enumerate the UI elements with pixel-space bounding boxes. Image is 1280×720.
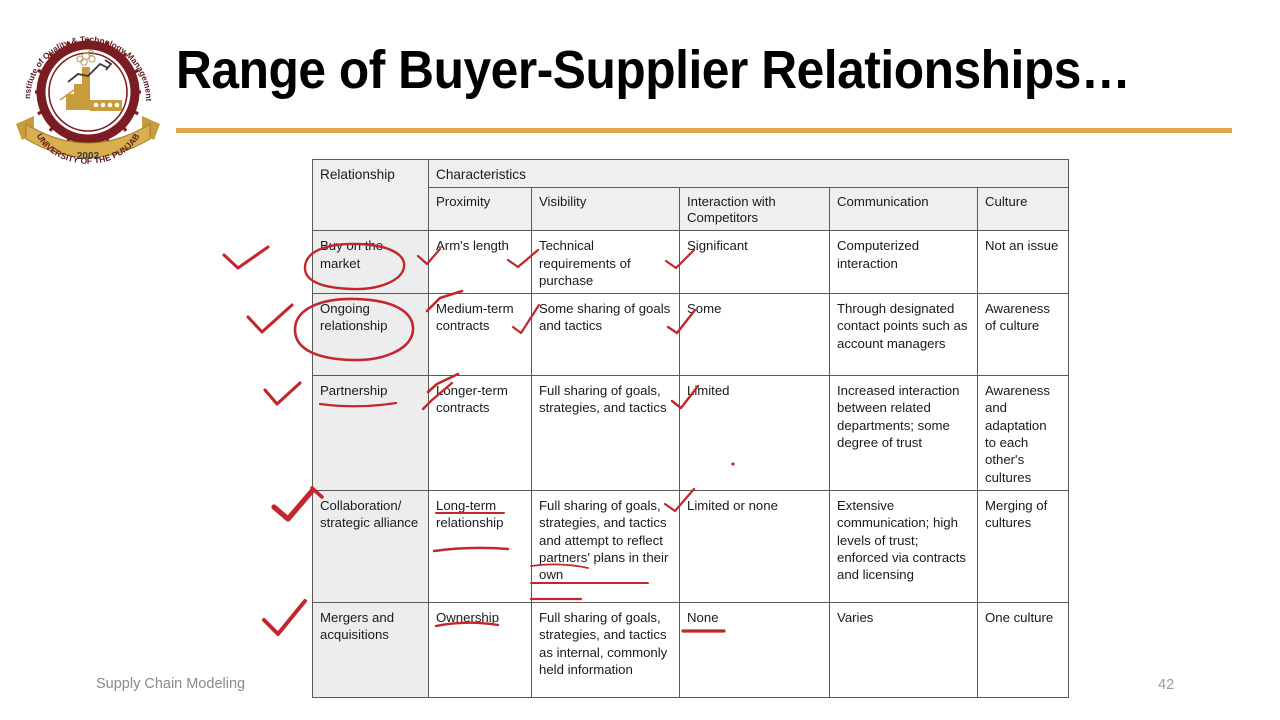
- table-row: Mergers and acquisitions Ownership Full …: [313, 602, 1069, 697]
- cell-interaction: None: [680, 602, 830, 697]
- cell-interaction: Limited or none: [680, 490, 830, 602]
- relationship-matrix-table: Relationship Characteristics Proximity V…: [312, 159, 1069, 698]
- cell-relationship: Collaboration/ strategic alliance: [313, 490, 429, 602]
- check-mark-row-collaboration: [274, 491, 312, 519]
- cell-proximity: Medium-term contracts: [429, 294, 532, 376]
- university-logo: Institute of Quality & Technology Manage…: [8, 12, 168, 172]
- footer-label: Supply Chain Modeling: [96, 676, 245, 692]
- header-interaction-with-competitors: Interaction with Competitors: [680, 188, 830, 231]
- page-number: 42: [1158, 677, 1174, 693]
- cell-culture: Not an issue: [978, 231, 1069, 294]
- header-proximity: Proximity: [429, 188, 532, 231]
- header-visibility: Visibility: [532, 188, 680, 231]
- slide-title: Range of Buyer-Supplier Relationships…: [176, 38, 1151, 102]
- cell-visibility: Full sharing of goals, strategies, and t…: [532, 376, 680, 491]
- cell-communication: Increased interaction between related de…: [830, 376, 978, 491]
- cell-interaction: Limited: [680, 376, 830, 491]
- cell-visibility: Full sharing of goals, strategies, and t…: [532, 602, 680, 697]
- cell-relationship: Buy on the market: [313, 231, 429, 294]
- cell-proximity: Longer-term contracts: [429, 376, 532, 491]
- cell-proximity: Long-term relationship: [429, 490, 532, 602]
- cell-culture: Awareness and adaptation to each other's…: [978, 376, 1069, 491]
- header-relationship: Relationship: [313, 160, 429, 231]
- table-row: Buy on the market Arm's length Technical…: [313, 231, 1069, 294]
- cell-culture: Awareness of culture: [978, 294, 1069, 376]
- table-row: Partnership Longer-term contracts Full s…: [313, 376, 1069, 491]
- header-communication: Communication: [830, 188, 978, 231]
- cell-visibility: Full sharing of goals, strategies, and t…: [532, 490, 680, 602]
- cell-proximity: Arm's length: [429, 231, 532, 294]
- check-mark-row-partnership: [265, 383, 300, 404]
- table-row: Collaboration/ strategic alliance Long-t…: [313, 490, 1069, 602]
- cell-interaction: Some: [680, 294, 830, 376]
- cell-relationship: Ongoing relationship: [313, 294, 429, 376]
- table-row: Ongoing relationship Medium-term contrac…: [313, 294, 1069, 376]
- cell-relationship: Mergers and acquisitions: [313, 602, 429, 697]
- cell-culture: One culture: [978, 602, 1069, 697]
- logo-year: 2002: [77, 151, 100, 162]
- title-divider-rule: [176, 128, 1232, 133]
- slide-canvas: Institute of Quality & Technology Manage…: [0, 0, 1280, 720]
- header-characteristics: Characteristics: [429, 160, 1069, 188]
- cell-culture: Merging of cultures: [978, 490, 1069, 602]
- cell-communication: Varies: [830, 602, 978, 697]
- header-culture: Culture: [978, 188, 1069, 231]
- relationship-matrix-container: Relationship Characteristics Proximity V…: [312, 159, 1068, 698]
- cell-communication: Extensive communication; high levels of …: [830, 490, 978, 602]
- check-mark-row-mergers: [264, 601, 305, 634]
- cell-visibility: Some sharing of goals and tactics: [532, 294, 680, 376]
- check-mark-row-buy-on-the-market: [224, 247, 268, 268]
- cell-interaction: Significant: [680, 231, 830, 294]
- cell-communication: Computerized interaction: [830, 231, 978, 294]
- cell-relationship: Partnership: [313, 376, 429, 491]
- check-mark-row-ongoing-relationship: [248, 305, 292, 332]
- cell-communication: Through designated contact points such a…: [830, 294, 978, 376]
- table-header-group-row: Relationship Characteristics: [313, 160, 1069, 188]
- cell-proximity: Ownership: [429, 602, 532, 697]
- cell-visibility: Technical requirements of purchase: [532, 231, 680, 294]
